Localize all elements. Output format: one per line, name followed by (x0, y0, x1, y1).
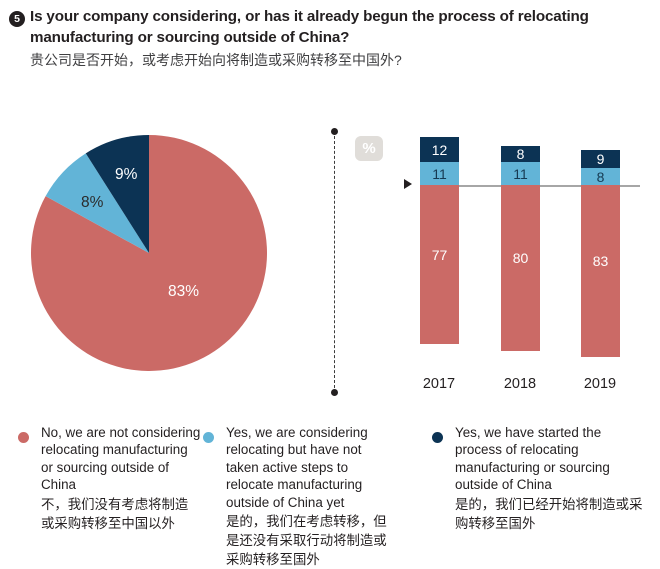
x-axis-label-2019: 2019 (570, 376, 630, 392)
bar-value-no-2019: 83 (581, 253, 620, 269)
bar-segment-started-2019: 9 (581, 150, 620, 169)
y-axis-dashed-line (334, 131, 335, 393)
y-axis-bottom-dot (331, 389, 338, 396)
bar-value-considering-2018: 11 (501, 166, 540, 182)
bar-segment-no-2017: 77 (420, 185, 459, 344)
pie-value-label-no: 83% (168, 283, 199, 301)
bar-segment-started-2018: 8 (501, 146, 540, 163)
bar-value-started-2018: 8 (501, 146, 540, 162)
bar-value-considering-2017: 11 (420, 166, 459, 182)
bar-value-started-2019: 9 (581, 151, 620, 167)
legend-text-block: Yes, we have started the process of relo… (455, 424, 651, 533)
legend-dot-icon-blue (203, 432, 214, 443)
bar-value-started-2017: 12 (420, 142, 459, 158)
pie-value-label-started: 9% (115, 166, 137, 184)
bar-value-considering-2019: 8 (581, 169, 620, 185)
bar-segment-no-2019: 83 (581, 185, 620, 357)
legend-text-block: No, we are not considering relocating ma… (41, 424, 201, 533)
bar-segment-considering-2017: 11 (420, 162, 459, 185)
pie-chart-canvas (31, 135, 267, 371)
legend-text-block: Yes, we are considering relocating but h… (226, 424, 392, 569)
page-title-chinese: 贵公司是否开始，或考虑开始向将制造或采购转移至中国外? (30, 50, 645, 70)
page-title: Is your company considering, or has it a… (30, 6, 645, 48)
bar-segment-considering-2019: 8 (581, 168, 620, 185)
legend-dot-icon-navy (432, 432, 443, 443)
question-number-badge: 5 (9, 11, 25, 27)
bar-chart: % 12 11 77 8 11 80 9 8 83 (320, 120, 660, 405)
legend-dot-icon-red (18, 432, 29, 443)
legend-label-en: No, we are not considering relocating ma… (41, 424, 201, 494)
bar-segment-no-2018: 80 (501, 185, 540, 351)
legend-label-en: Yes, we are considering relocating but h… (226, 424, 392, 511)
chart-legend: No, we are not considering relocating ma… (0, 424, 660, 567)
legend-label-zh: 不，我们没有考虑将制造或采购转移至中国以外 (41, 495, 201, 533)
percent-unit-badge: % (355, 136, 383, 161)
bar-value-no-2017: 77 (420, 247, 459, 263)
pie-chart-svg (31, 135, 267, 371)
x-axis-label-2017: 2017 (409, 376, 469, 392)
y-axis-top-dot (331, 128, 338, 135)
bar-segment-considering-2018: 11 (501, 162, 540, 185)
pie-value-label-considering: 8% (81, 194, 103, 212)
bar-segment-started-2017: 12 (420, 137, 459, 162)
legend-label-en: Yes, we have started the process of relo… (455, 424, 651, 494)
legend-label-zh: 是的，我们在考虑转移，但是还没有采取行动将制造或采购转移至国外 (226, 512, 392, 569)
x-axis-label-2018: 2018 (490, 376, 550, 392)
legend-label-zh: 是的，我们已经开始将制造或采购转移至国外 (455, 495, 651, 533)
bar-value-no-2018: 80 (501, 250, 540, 266)
reference-arrow-icon (404, 179, 412, 189)
